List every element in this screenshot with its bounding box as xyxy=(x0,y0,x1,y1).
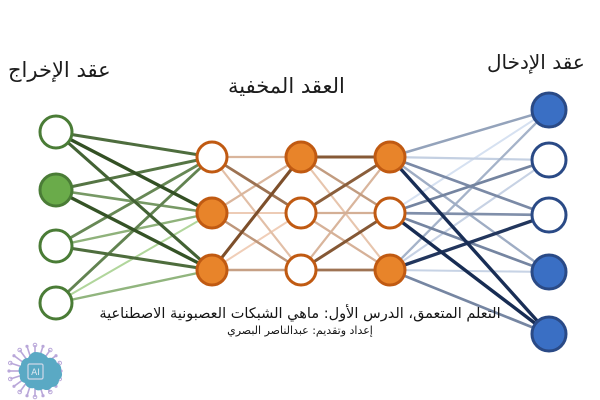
network-node-hidden-layer-1-1 xyxy=(197,142,227,172)
network-node-hidden-layer-1-3 xyxy=(197,255,227,285)
logo-trace-node xyxy=(26,395,28,397)
network-edge xyxy=(390,213,549,215)
logo-text: AI xyxy=(31,368,40,378)
logo-trace-node xyxy=(13,355,15,357)
logo-trace-node xyxy=(26,345,28,347)
layer-label-input: عقد الإدخال xyxy=(487,50,585,74)
network-edge xyxy=(56,270,212,303)
layer-label-hidden: العقد المخفية xyxy=(228,74,345,98)
logo-trace-node xyxy=(42,395,44,397)
logo-trace-node xyxy=(55,355,57,357)
network-node-hidden-layer-3-1 xyxy=(375,142,405,172)
logo-trace-node xyxy=(8,370,10,372)
network-node-output-layer-3 xyxy=(40,230,72,262)
network-node-input-layer-1 xyxy=(532,93,566,127)
network-node-output-layer-1 xyxy=(40,116,72,148)
layer-label-output: عقد الإخراج xyxy=(8,58,111,82)
neural-network-diagram-page: عقد الإخراج العقد المخفية عقد الإدخال ال… xyxy=(0,0,600,400)
logo-trace-node xyxy=(13,385,15,387)
network-node-hidden-layer-2-1 xyxy=(286,142,316,172)
network-edge xyxy=(390,110,549,213)
caption-title: التعلم المتعمق، الدرس الأول: ماهي الشبكا… xyxy=(0,306,600,322)
network-node-hidden-layer-2-2 xyxy=(286,198,316,228)
network-node-input-layer-2 xyxy=(532,143,566,177)
network-node-output-layer-2 xyxy=(40,174,72,206)
network-node-hidden-layer-1-2 xyxy=(197,198,227,228)
network-node-input-layer-4 xyxy=(532,255,566,289)
network-node-hidden-layer-2-3 xyxy=(286,255,316,285)
edges-output-to-hidden1 xyxy=(56,132,212,303)
edges-hidden3-to-input xyxy=(390,110,549,334)
network-node-hidden-layer-3-2 xyxy=(375,198,405,228)
ai-chip-logo: AI xyxy=(4,342,66,400)
logo-trace-node xyxy=(42,345,44,347)
caption-author: إعداد وتقديم: عبدالناصر البصري xyxy=(0,324,600,337)
network-node-input-layer-3 xyxy=(532,198,566,232)
network-node-hidden-layer-3-3 xyxy=(375,255,405,285)
network-edge xyxy=(390,157,549,160)
